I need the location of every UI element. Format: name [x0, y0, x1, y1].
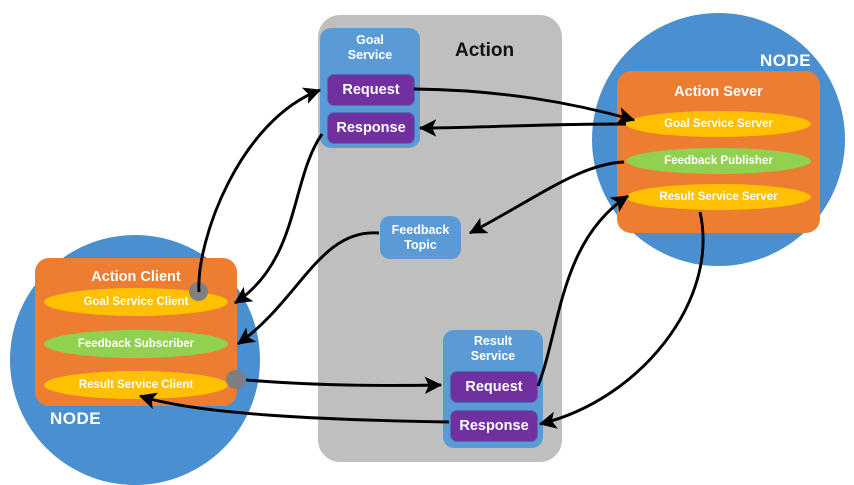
result-client-dot	[226, 370, 245, 389]
goal-service-response[interactable]: Response	[327, 112, 415, 144]
action-server-title: Action Sever	[617, 84, 820, 100]
feedback-topic-box[interactable]: Feedback Topic	[380, 216, 461, 259]
result-service-request-label: Request	[465, 379, 522, 395]
goal-service-request[interactable]: Request	[327, 74, 415, 106]
goal-service-server-label: Goal Service Server	[664, 118, 773, 130]
result-service-client-label: Result Service Client	[79, 379, 193, 391]
client-node-label: NODE	[50, 409, 101, 429]
goal-service-title: Goal Service	[320, 33, 420, 63]
server-node-label: NODE	[760, 51, 811, 71]
feedback-subscriber-pill[interactable]: Feedback Subscriber	[44, 330, 228, 358]
feedback-topic-title-line2: Topic	[392, 238, 450, 253]
result-service-server-label: Result Service Server	[659, 191, 777, 203]
goal-service-title-line2: Service	[320, 48, 420, 63]
feedback-subscriber-label: Feedback Subscriber	[78, 338, 194, 350]
result-service-title-line2: Service	[443, 349, 543, 364]
goal-service-request-label: Request	[342, 82, 399, 98]
goal-service-response-label: Response	[336, 120, 405, 136]
result-service-response[interactable]: Response	[450, 410, 538, 442]
arrow-goalresponse-to-goalclient	[235, 134, 322, 303]
goal-client-dot	[189, 282, 208, 301]
action-client-title: Action Client	[35, 269, 237, 285]
result-service-client-pill[interactable]: Result Service Client	[44, 371, 228, 399]
result-service-request[interactable]: Request	[450, 371, 538, 403]
result-service-response-label: Response	[459, 418, 528, 434]
goal-service-server-pill[interactable]: Goal Service Server	[626, 111, 811, 137]
feedback-topic-title-line1: Feedback	[392, 223, 450, 238]
goal-service-title-line1: Goal	[320, 33, 420, 48]
goal-service-client-label: Goal Service Client	[84, 296, 189, 308]
result-service-title: Result Service	[443, 334, 543, 364]
action-container-label: Action	[455, 40, 514, 62]
diagram-canvas: Action NODE Action Client Goal Service C…	[0, 0, 854, 480]
result-service-server-pill[interactable]: Result Service Server	[626, 184, 811, 210]
feedback-publisher-label: Feedback Publisher	[664, 155, 773, 167]
feedback-publisher-pill[interactable]: Feedback Publisher	[626, 148, 811, 174]
result-service-title-line1: Result	[443, 334, 543, 349]
